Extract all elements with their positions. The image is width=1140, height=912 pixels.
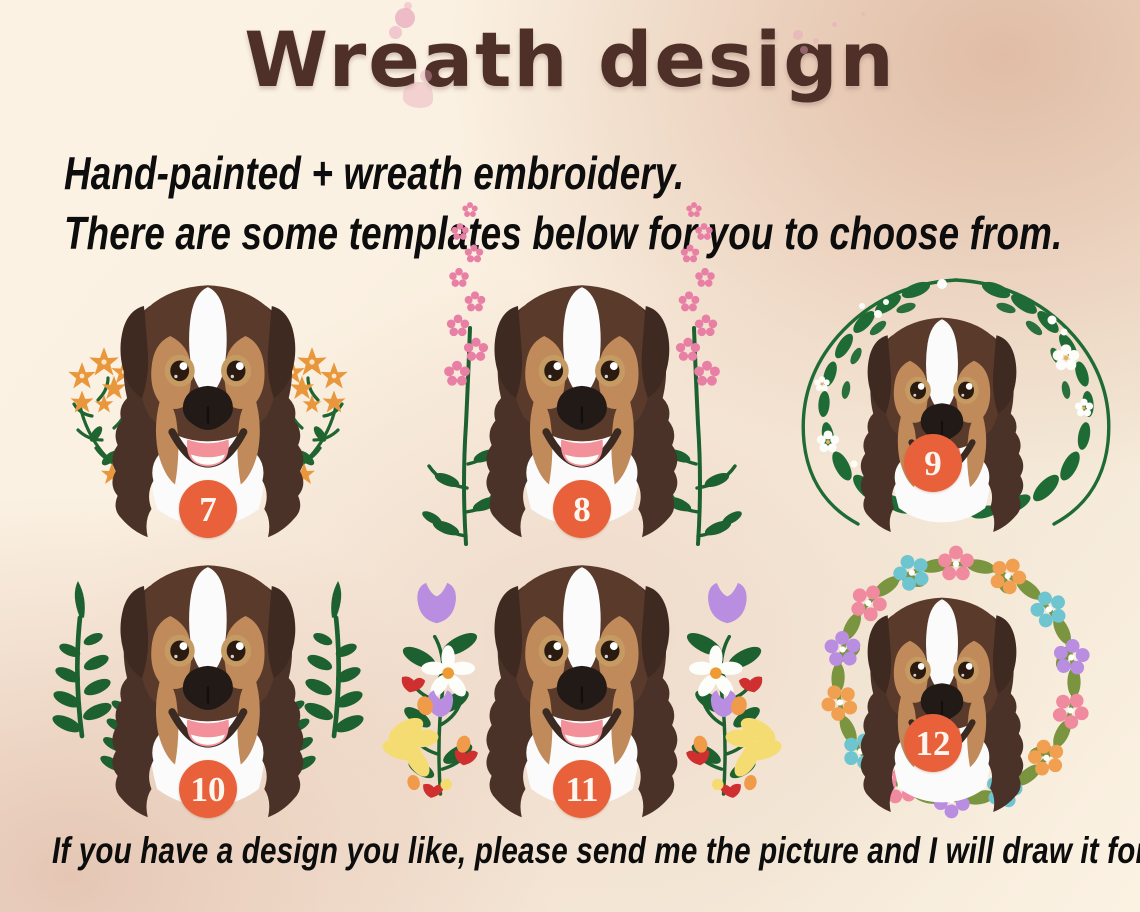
template-option-8[interactable]: 8 <box>392 268 772 548</box>
template-number-badge[interactable]: 12 <box>904 714 962 772</box>
template-number-badge[interactable]: 8 <box>553 480 611 538</box>
template-number-badge[interactable]: 10 <box>179 760 237 818</box>
wreath-art-12 <box>766 542 1140 822</box>
paint-splatter-dot <box>404 2 412 10</box>
leaf-frond-right-tall-10 <box>302 581 366 736</box>
template-number-badge[interactable]: 9 <box>904 434 962 492</box>
template-option-9[interactable]: 9 <box>766 262 1140 542</box>
template-option-11[interactable]: 11 <box>392 548 772 828</box>
wreath-art-9 <box>766 262 1140 542</box>
template-number-badge[interactable]: 11 <box>553 760 611 818</box>
template-option-10[interactable]: 10 <box>18 548 398 828</box>
dog-portrait-9 <box>861 318 1023 532</box>
intro-line-1: Hand-painted + wreath embroidery. <box>64 146 684 200</box>
intro-line-2: There are some templates below for you t… <box>64 206 1062 260</box>
title-area: Wreath design <box>0 10 1140 115</box>
page-title: Wreath design <box>0 10 1140 110</box>
template-option-7[interactable]: 7 <box>18 268 398 548</box>
poster-canvas: Wreath design Hand-painted + wreath embr… <box>0 0 1140 912</box>
footer-note: If you have a design you like, please se… <box>52 830 1140 872</box>
template-number-badge[interactable]: 7 <box>179 480 237 538</box>
bouquet-left-11 <box>380 583 480 798</box>
leaf-frond-left-tall-10 <box>50 581 114 736</box>
dog-portrait-12 <box>861 598 1023 812</box>
template-option-12[interactable]: 12 <box>766 542 1140 822</box>
